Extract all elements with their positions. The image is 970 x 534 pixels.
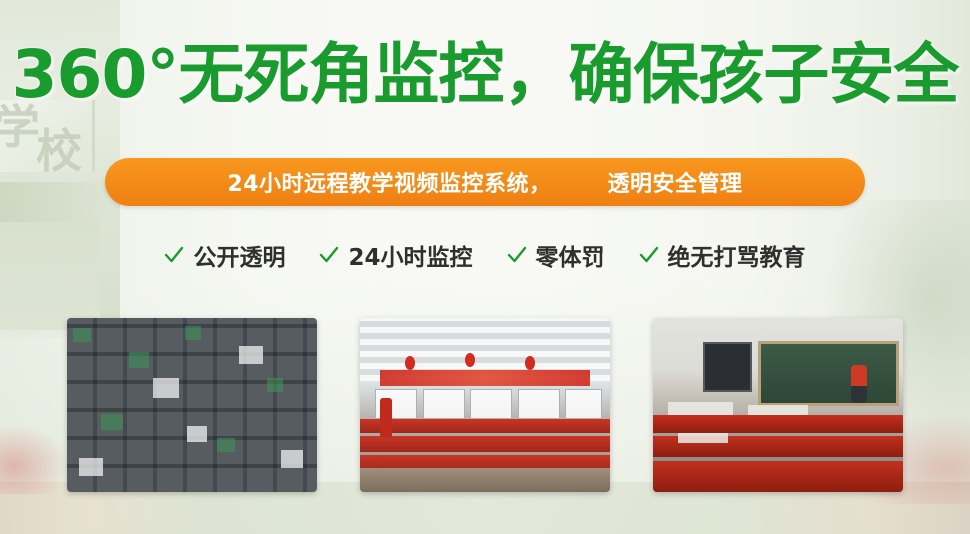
feature-label-1: 公开透明 <box>193 238 285 272</box>
feature-label-3: 零体罚 <box>536 238 605 272</box>
subtitle-right-text: 透明安全管理 <box>608 166 743 198</box>
check-icon <box>639 245 659 265</box>
feature-item-1: 公开透明 <box>164 238 285 272</box>
feature-item-3: 零体罚 <box>507 238 605 272</box>
feature-label-4: 绝无打骂教育 <box>668 238 806 272</box>
feature-item-2: 24小时监控 <box>319 238 472 272</box>
cctv-monitor-wall-photo <box>67 318 317 492</box>
check-icon <box>507 245 527 265</box>
school-assembly-hall-photo <box>360 318 610 492</box>
page-title: 360°无死角监控，确保孩子安全 <box>0 42 970 108</box>
feature-item-4: 绝无打骂教育 <box>639 238 806 272</box>
promo-banner: 学 校 360°无死角监控，确保孩子安全 24小时远程教学视频监控系统， 透明安… <box>0 0 970 534</box>
classroom-lesson-photo <box>653 318 903 492</box>
photo-gallery <box>0 318 970 492</box>
check-icon <box>319 245 339 265</box>
subtitle-left-text: 24小时远程教学视频监控系统， <box>227 166 551 198</box>
feature-list: 公开透明 24小时监控 零体罚 绝无打骂教育 <box>0 238 970 272</box>
subtitle-pill: 24小时远程教学视频监控系统， 透明安全管理 <box>105 158 865 206</box>
feature-label-2: 24小时监控 <box>348 238 472 272</box>
check-icon <box>164 245 184 265</box>
